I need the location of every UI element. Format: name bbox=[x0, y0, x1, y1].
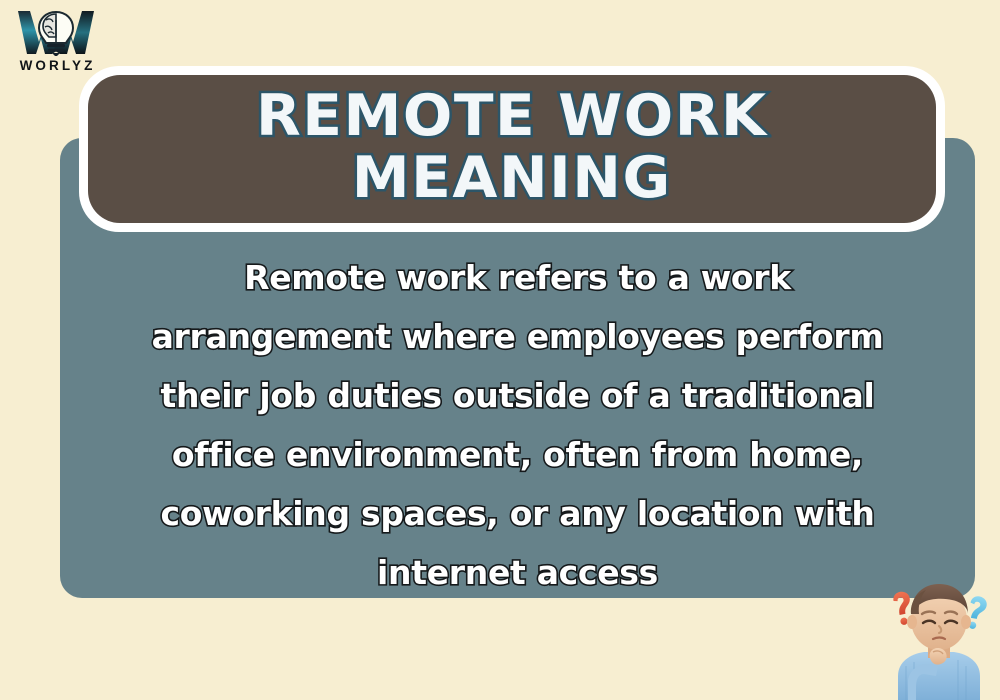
page-title-line-2: Meaning bbox=[256, 147, 768, 209]
brand-logo: WORLYZ bbox=[8, 6, 104, 80]
page-title-line-1: Remote Work bbox=[256, 85, 768, 147]
brand-name: WORLYZ bbox=[8, 58, 104, 74]
body-line: arrangement where employees perform bbox=[100, 307, 935, 366]
body-line: coworking spaces, or any location with bbox=[100, 484, 935, 543]
brain-lightbulb-w-logo-icon bbox=[8, 6, 104, 58]
body-line: office environment, often from home, bbox=[100, 425, 935, 484]
body-line: Remote work refers to a work bbox=[100, 248, 935, 307]
poster-canvas: WORLYZ Remote Work Meaning Remote work r… bbox=[0, 0, 1000, 700]
body-line: internet access bbox=[100, 543, 935, 602]
title-card-inner: Remote Work Meaning bbox=[88, 75, 936, 223]
body-line: their job duties outside of a traditiona… bbox=[100, 366, 935, 425]
title-card: Remote Work Meaning bbox=[79, 66, 945, 232]
body-copy: Remote work refers to a work arrangement… bbox=[100, 248, 935, 602]
page-title: Remote Work Meaning bbox=[256, 85, 768, 209]
thinking-person-3d-illustration bbox=[878, 570, 1000, 700]
